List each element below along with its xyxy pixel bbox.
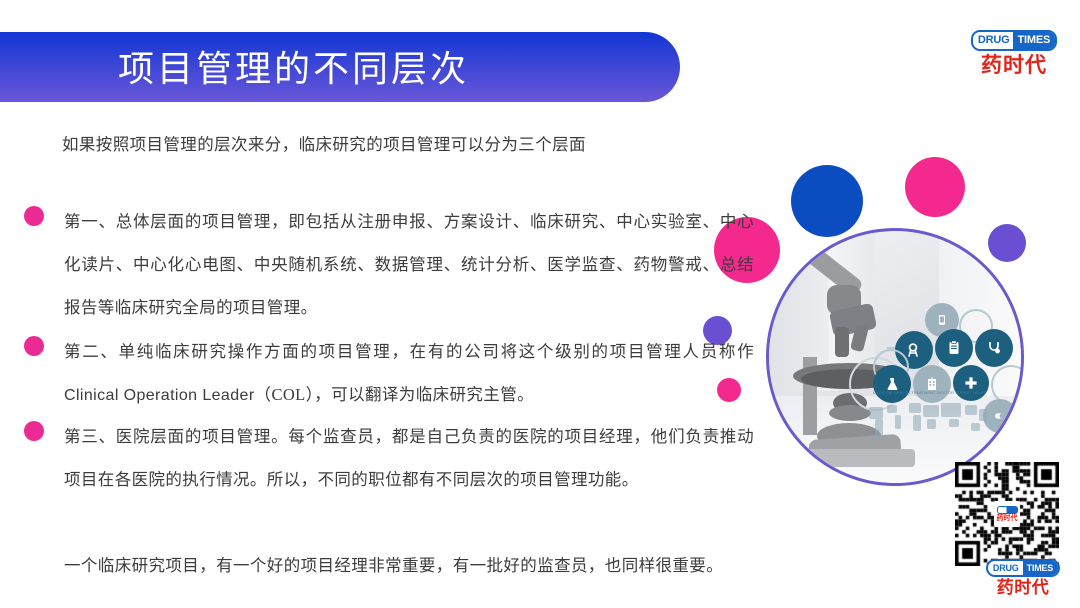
clipboard-icon — [935, 329, 973, 367]
closing-paragraph: 一个临床研究项目，有一个好的项目经理非常重要，有一批好的监查员，也同样很重要。 — [64, 552, 723, 576]
brand-logo: DRUG TIMES 药时代 — [966, 30, 1062, 77]
qr-brand-logo: DRUG TIMES 药时代 — [977, 558, 1069, 598]
flask-icon — [873, 365, 911, 403]
qr-brand-pill: DRUG TIMES — [986, 559, 1060, 577]
brand-logo-pill: DRUG TIMES — [971, 30, 1057, 51]
list-item: 第三、医院层面的项目管理。每个监查员，都是自己负责的医院的项目经理，他们负责推动… — [24, 415, 754, 501]
brand-word-times: TIMES — [1013, 32, 1055, 49]
qr-center-chinese: 药时代 — [997, 514, 1018, 522]
intro-paragraph: 如果按照项目管理的层次来分，临床研究的项目管理可以分为三个层面 — [62, 131, 586, 155]
qr-brand-word-times: TIMES — [1023, 561, 1059, 575]
brand-chinese-name: 药时代 — [966, 53, 1062, 77]
qr-mini-pill-icon — [997, 506, 1018, 514]
list-item: 第二、单纯临床研究操作方面的项目管理，在有的公司将这个级别的项目管理人员称作Cl… — [24, 330, 754, 417]
page-title: 项目管理的不同层次 — [118, 40, 469, 92]
list-item-text: 第三、医院层面的项目管理。每个监查员，都是自己负责的医院的项目经理，他们负责推动… — [64, 415, 754, 501]
list-item-text-latin: Clinical Operation Leader — [64, 387, 255, 404]
list-item-text-after: （COL），可以翻译为临床研究主管。 — [255, 385, 534, 404]
hospital-icon — [913, 365, 951, 403]
stethoscope-icon — [975, 329, 1013, 367]
decorative-circle-pink-medium — [905, 157, 965, 217]
world-map-graphic — [865, 399, 993, 445]
microscope-objective-icon — [835, 327, 849, 357]
bullet-dot-icon — [24, 336, 44, 356]
qr-center-logo: 药时代 — [994, 501, 1020, 527]
slide-canvas: 项目管理的不同层次 DRUG TIMES 药时代 — [0, 0, 1080, 608]
brand-word-drug: DRUG — [973, 32, 1014, 49]
microscope-foot-icon — [795, 449, 915, 467]
microscope-photo-inner: MEDICINE HEALTH TREATMENT DOCTOR SURVEY … — [769, 231, 1021, 483]
list-item-text: 第一、总体层面的项目管理，即包括从注册申报、方案设计、临床研究、中心实验室、中心… — [64, 200, 754, 329]
bullet-dot-icon — [24, 421, 44, 441]
qr-brand-word-drug: DRUG — [988, 561, 1023, 575]
qr-code-block[interactable]: 药时代 DRUG TIMES 药时代 — [955, 462, 1071, 602]
list-item-text-before: 第二、单纯临床研究操作方面的项目管理，在有的公司将这个级别的项目管理人员称作 — [64, 342, 754, 361]
list-item-text: 第二、单纯临床研究操作方面的项目管理，在有的公司将这个级别的项目管理人员称作Cl… — [64, 330, 754, 417]
infographic-caption: MEDICINE HEALTH TREATMENT DOCTOR SURVEY … — [873, 391, 986, 396]
decorative-circle-blue-large — [791, 165, 863, 237]
qr-brand-chinese: 药时代 — [977, 578, 1069, 598]
list-item: 第一、总体层面的项目管理，即包括从注册申报、方案设计、临床研究、中心实验室、中心… — [24, 200, 754, 329]
bullet-dot-icon — [24, 206, 44, 226]
microscope-photo: MEDICINE HEALTH TREATMENT DOCTOR SURVEY … — [766, 228, 1024, 486]
